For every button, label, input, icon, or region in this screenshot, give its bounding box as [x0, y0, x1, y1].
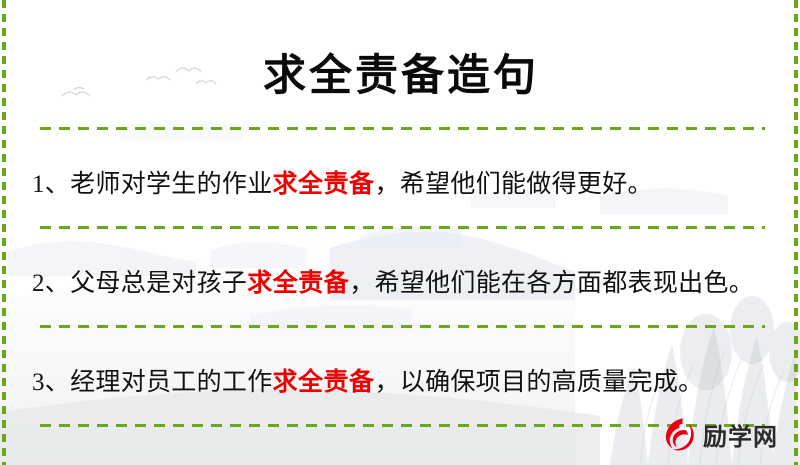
left-dashed-border	[2, 0, 6, 465]
sentence-3-after: ，以确保项目的高质量完成。	[375, 369, 704, 396]
brand-name: 励学网	[703, 417, 778, 452]
content-area: 求全责备造句 1、老师对学生的作业求全责备，希望他们能做得更好。 2、父母总是对…	[0, 29, 800, 465]
divider-3	[40, 325, 765, 328]
sentence-3-number: 3、	[32, 369, 70, 396]
example-sentence-2: 2、父母总是对孩子求全责备，希望他们能在各方面都表现出色。	[24, 254, 778, 300]
sentence-1-idiom: 求全责备	[273, 171, 375, 198]
sentence-1-before: 老师对学生的作业	[70, 171, 272, 198]
sentence-2-number: 2、	[32, 270, 70, 297]
page-title: 求全责备造句	[24, 29, 778, 98]
divider-2	[40, 226, 765, 229]
flame-swirl-logo-icon	[659, 415, 697, 453]
right-dashed-border	[794, 0, 798, 465]
sentence-3-idiom: 求全责备	[273, 369, 375, 396]
sentence-3-before: 经理对员工的工作	[70, 369, 272, 396]
example-sentence-3: 3、经理对员工的工作求全责备，以确保项目的高质量完成。	[24, 353, 778, 399]
example-sentence-1: 1、老师对学生的作业求全责备，希望他们能做得更好。	[24, 155, 778, 201]
slide-page: 求全责备造句 1、老师对学生的作业求全责备，希望他们能做得更好。 2、父母总是对…	[0, 0, 800, 465]
divider-1	[40, 127, 765, 130]
sentence-2-idiom: 求全责备	[247, 270, 349, 297]
sentence-2-after: ，希望他们能在各方面都表现出色。	[349, 270, 754, 297]
sentence-1-after: ，希望他们能做得更好。	[375, 171, 653, 198]
divider-4	[40, 424, 765, 427]
sentence-2-before: 父母总是对孩子	[70, 270, 247, 297]
sentence-1-number: 1、	[32, 171, 70, 198]
site-watermark: 励学网	[659, 415, 778, 453]
